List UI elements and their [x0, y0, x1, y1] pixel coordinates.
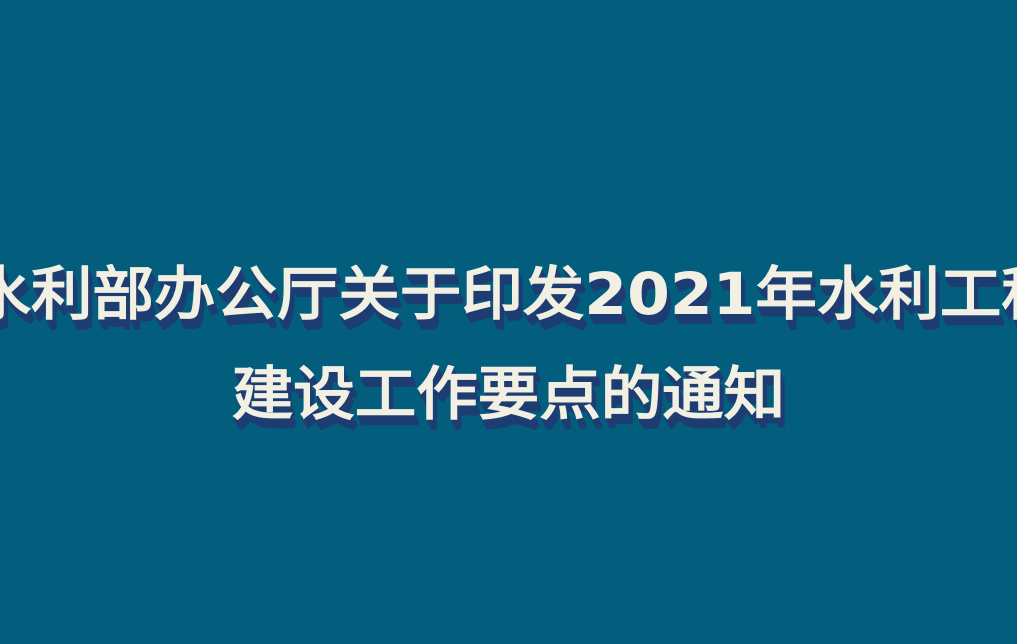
title-line-1: 水利部办公厅关于印发2021年水利工程	[0, 244, 1017, 344]
title-line-2: 建设工作要点的通知	[0, 344, 1017, 444]
banner-canvas: 水利部办公厅关于印发2021年水利工程 建设工作要点的通知	[0, 0, 1017, 644]
page-title: 水利部办公厅关于印发2021年水利工程 建设工作要点的通知	[0, 244, 1017, 444]
